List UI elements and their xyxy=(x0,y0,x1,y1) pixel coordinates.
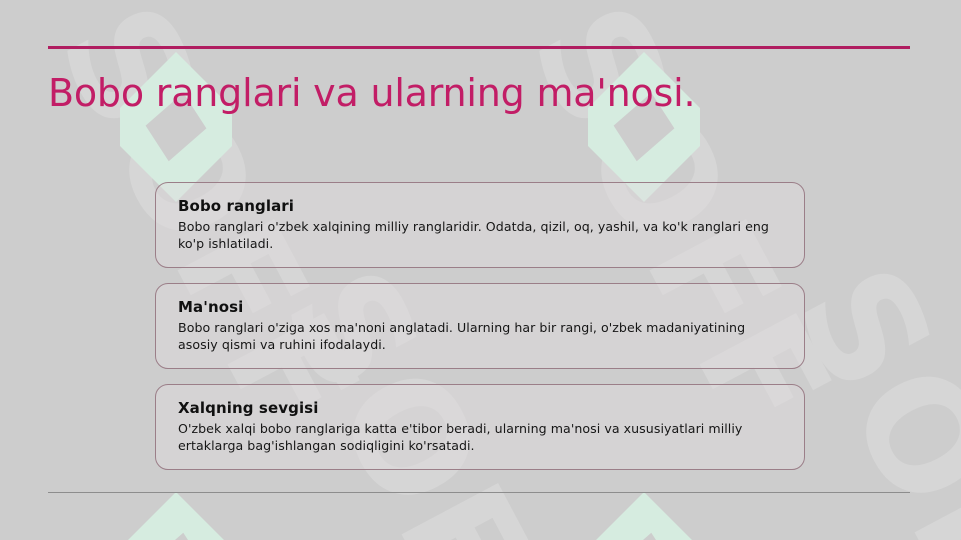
card-body: O'zbek xalqi bobo ranglariga katta e'tib… xyxy=(178,420,784,454)
slide-canvas: SOFF SOFF SOFF SOFF xyxy=(0,0,961,540)
card-body: Bobo ranglari o'zbek xalqining milliy ra… xyxy=(178,218,784,252)
bottom-divider xyxy=(48,492,910,493)
card-body: Bobo ranglari o'ziga xos ma'noni anglata… xyxy=(178,319,784,353)
soff-diamond-logo-icon xyxy=(588,492,700,540)
card-heading: Bobo ranglari xyxy=(178,197,784,216)
card-heading: Ma'nosi xyxy=(178,298,784,317)
top-accent-rule xyxy=(48,46,910,49)
soff-diamond-logo-icon xyxy=(120,492,232,540)
page-title: Bobo ranglari va ularning ma'nosi. xyxy=(48,70,928,116)
content-card: Xalqning sevgisi O'zbek xalqi bobo rangl… xyxy=(155,384,805,470)
content-card: Bobo ranglari Bobo ranglari o'zbek xalqi… xyxy=(155,182,805,268)
card-list: Bobo ranglari Bobo ranglari o'zbek xalqi… xyxy=(155,182,805,470)
content-card: Ma'nosi Bobo ranglari o'ziga xos ma'noni… xyxy=(155,283,805,369)
card-heading: Xalqning sevgisi xyxy=(178,399,784,418)
